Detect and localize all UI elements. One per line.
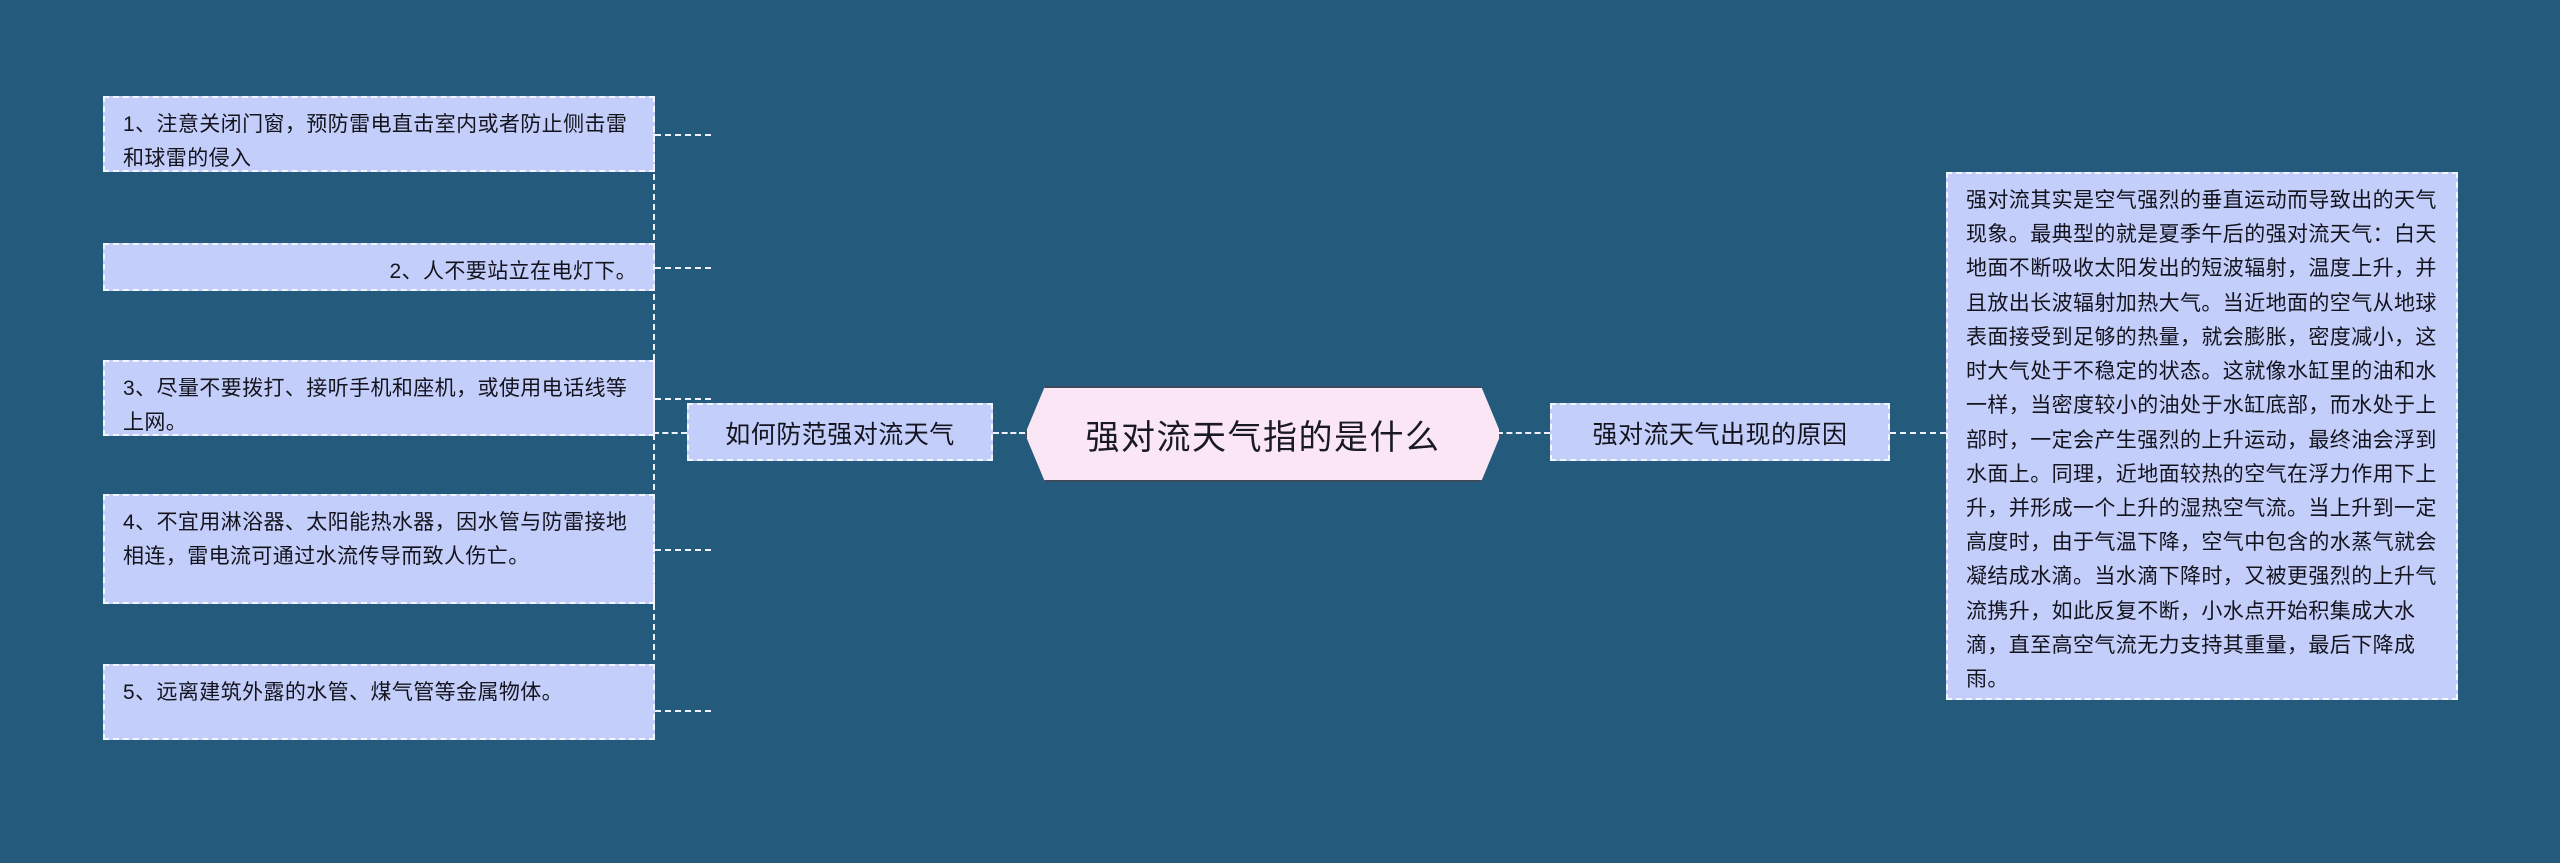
connector-left-stub-5 (655, 710, 711, 712)
branch-node-prevention[interactable]: 如何防范强对流天气 (687, 403, 993, 461)
mindmap-canvas: 1、注意关闭门窗，预防雷电直击室内或者防止侧击雷和球雷的侵入 2、人不要站立在电… (0, 0, 2560, 863)
list-item[interactable]: 1、注意关闭门窗，预防雷电直击室内或者防止侧击雷和球雷的侵入 (103, 96, 655, 172)
connector-right-branch-to-detail (1890, 432, 1946, 434)
list-item[interactable]: 2、人不要站立在电灯下。 (103, 243, 655, 291)
page-title[interactable]: 强对流天气指的是什么 (1025, 386, 1501, 482)
connector-spine-to-left-branch (653, 432, 687, 434)
list-item[interactable]: 5、远离建筑外露的水管、煤气管等金属物体。 (103, 664, 655, 740)
cause-detail-text[interactable]: 强对流其实是空气强烈的垂直运动而导致出的天气现象。最典型的就是夏季午后的强对流天… (1946, 172, 2458, 700)
branch-node-cause[interactable]: 强对流天气出现的原因 (1550, 403, 1890, 461)
connector-left-stub-1 (655, 134, 711, 136)
connector-left-stub-2 (655, 267, 711, 269)
connector-left-stub-4 (655, 549, 711, 551)
connector-left-stub-3 (655, 398, 711, 400)
connector-left-spine (653, 134, 655, 710)
list-item[interactable]: 4、不宜用淋浴器、太阳能热水器，因水管与防雷接地相连，雷电流可通过水流传导而致人… (103, 494, 655, 604)
connector-center-to-right-branch (1497, 432, 1550, 434)
list-item[interactable]: 3、尽量不要拨打、接听手机和座机，或使用电话线等上网。 (103, 360, 655, 436)
connector-left-branch-to-center (993, 432, 1025, 434)
